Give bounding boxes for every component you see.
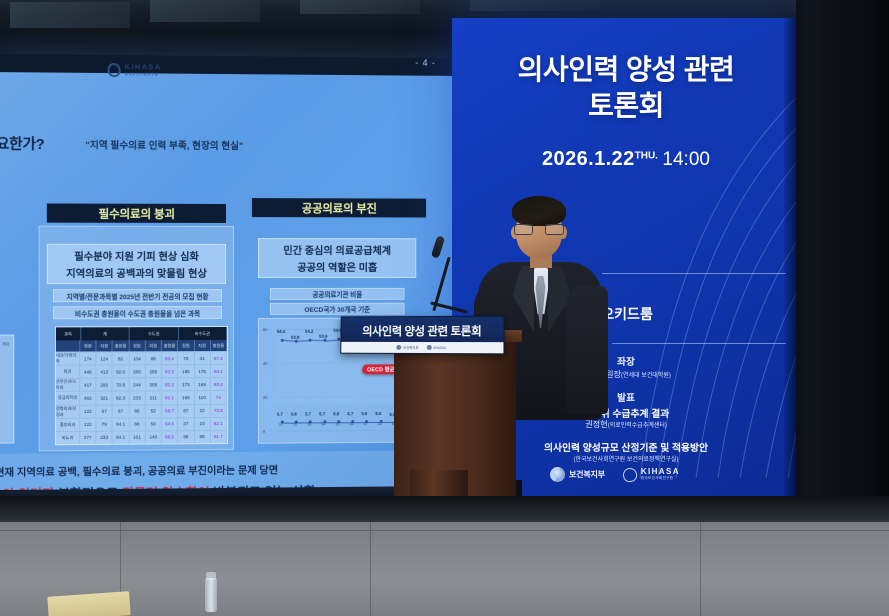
table-sub-headers: 정원 지원 충원율 정원 지원 충원율 정원 지원 충원율 [56, 340, 227, 352]
table-cell: 82.2 [162, 378, 178, 390]
table-cell: 59.7 [162, 405, 178, 417]
table-cell: 41 [194, 352, 210, 364]
slide-question: 논의가 필요한가? [0, 132, 44, 154]
table-cell: 82.3 [113, 392, 129, 404]
table-cell: 122 [80, 405, 96, 417]
table-cell: 161 [129, 431, 145, 443]
poster-title: 의사인력 양성 관련 토론회 [452, 52, 800, 124]
table-row: 외과44641392.626025592.218617594.1 [56, 364, 227, 378]
table-cell: 124 [97, 352, 113, 364]
table-cell: 96 [178, 431, 194, 443]
table-row-label: 산부인과/소아과 [56, 379, 80, 391]
regional-gap-map-panel: 지역별 의료 격차 [0, 335, 14, 445]
table-cell: 23 [194, 418, 210, 430]
speaker-arm-right [566, 286, 608, 414]
table-cell: 244 [129, 379, 145, 391]
table-cell: 417 [80, 379, 96, 391]
chart-data-label: 5.8 [333, 411, 339, 416]
chart-data-label: 5.6 [361, 412, 367, 417]
chart-data-label: 53.9 [319, 334, 327, 339]
table-cell: 233 [97, 432, 113, 444]
residency-table: 과목 계 수도권 비수도권 정원 지원 충원율 정원 지원 충원율 정원 지원 … [55, 326, 228, 445]
chart-data-label: 5.7 [305, 412, 311, 417]
table-cell: 83.4 [162, 352, 178, 364]
slide-kihasa-logo: KIHASA 한국보건사회연구원 [108, 63, 162, 78]
kihasa-logo-text: KIHASA [125, 64, 162, 73]
ceiling-panel [470, 0, 600, 11]
left-projection-screen: - 4 - KIHASA 한국보건사회연구원 논의가 필요한가? "지역 필수의… [0, 54, 457, 490]
table-cell: 413 [97, 366, 113, 378]
table-cell: 79 [97, 418, 113, 430]
table-cell: 169 [178, 392, 194, 404]
map-label: 지역별 의료 격차 [0, 342, 9, 348]
table-cell: 70 [178, 352, 194, 364]
table-cell: 174 [80, 352, 96, 364]
table-cell: 70.8 [113, 379, 129, 391]
table-cell: 82 [113, 352, 129, 364]
chart-data-label: 53.8 [291, 334, 299, 339]
floor-seam [370, 516, 371, 616]
public-summary-box: 민간 중심의 의료공급체계 공공의 역할은 미흡 [258, 238, 416, 278]
slide-page-number: - 4 - [415, 58, 436, 68]
chart-data-label: 5.7 [319, 412, 325, 417]
chart-y-tick: 60 [263, 327, 267, 332]
table-cell: 402 [80, 392, 96, 404]
floor-seam [700, 516, 701, 616]
kihasa-diamond-icon [106, 62, 122, 79]
essential-note-1: 지역별/전문과목별 2025년 전반기 전공의 모집 현황 [53, 289, 222, 302]
table-cell: 122 [80, 418, 96, 430]
table-cell: 94.1 [211, 365, 227, 377]
podium-banner-title: 의사인력 양성 관련 토론회 [341, 323, 503, 339]
kihasa-diamond-icon [426, 345, 431, 350]
chart-data-label: 5.6 [375, 412, 381, 417]
chart-x-tick: 16 [349, 422, 353, 426]
table-cell: 110 [194, 391, 210, 403]
table-cell: 67 [113, 405, 129, 417]
table-cell: 260 [129, 365, 145, 377]
ceiling-panel [150, 0, 260, 22]
chart-data-label: 5.7 [277, 412, 283, 417]
table-cell: 140 [146, 431, 162, 443]
table-cell: 86.5 [162, 431, 178, 443]
conference-stage-scene: - 4 - KIHASA 한국보건사회연구원 논의가 필요한가? "지역 필수의… [0, 0, 889, 616]
stage-front-edge [0, 496, 889, 522]
chart-x-tick: 12 [293, 423, 297, 427]
chart-data-label: 5.7 [347, 412, 353, 417]
section-divider [612, 343, 786, 344]
card-header-essential: 필수의료의 붕괴 [47, 203, 226, 223]
taeguk-icon [396, 345, 401, 350]
table-cell: 93.4 [211, 378, 227, 390]
essential-summary-box: 필수분야 지원 기피 현상 심화 지역의료의 공백과의 맞물림 현상 [47, 244, 226, 284]
kihasa-logo-subtitle: 한국보건사회연구원 [125, 72, 162, 77]
table-cell: 205 [146, 379, 162, 391]
water-bottle [205, 578, 217, 612]
podium-banner: 의사인력 양성 관련 토론회 보건복지부 KIHASA [340, 316, 504, 355]
public-note-1: 공공의료기관 비율 [270, 288, 405, 300]
chart-y-tick: 0 [263, 429, 265, 434]
kihasa-diamond-icon [621, 466, 638, 483]
chart-y-tick: 20 [263, 395, 267, 400]
table-cell: 72.8 [211, 405, 227, 417]
poster-logo-row: 보건복지부 KIHASA 한국보건사회연구원 [550, 467, 680, 482]
table-row: 흉부외과1227964.1885664.5372362.1 [56, 417, 227, 431]
table-cell: 88 [129, 405, 145, 417]
table-row: 정형외과/신경과1226767885259.7872272.8 [56, 404, 227, 418]
table-row: 비뇨과27723384.116114086.5968891.7 [56, 430, 227, 444]
table-row-label: 비뇨과 [56, 432, 80, 444]
table-cell: 92.1 [162, 392, 178, 404]
chart-data-label: 54.2 [305, 329, 313, 334]
public-note-2: OECD국가 30개국 기준 [270, 303, 405, 315]
table-cell: 74 [211, 391, 227, 403]
logo-mohw: 보건복지부 [550, 467, 605, 482]
table-cell: 211 [146, 392, 162, 404]
table-row-label: 정형외과/신경과 [56, 405, 80, 417]
table-head-groups: 과목 계 수도권 비수도권 [56, 327, 227, 340]
slide-quote: "지역 필수의료 인력 부족, 현장의 현실" [85, 137, 243, 152]
floor-seam [0, 530, 889, 531]
table-cell: 295 [97, 379, 113, 391]
table-row-label: 흉부외과 [56, 419, 80, 431]
podium-banner-footer: 보건복지부 KIHASA [341, 342, 503, 353]
chart-x-tick: 17 [363, 422, 367, 426]
conclusion-line-1: 나라는 현재 지역의료 공백, 필수의료 붕괴, 공공의료 부진이라는 문제 당… [0, 462, 278, 480]
chart-gridline [277, 430, 411, 432]
table-cell: 446 [80, 366, 96, 378]
slide-conclusion: 나라는 현재 지역의료 공백, 필수의료 붕괴, 공공의료 부진이라는 문제 당… [0, 450, 457, 490]
table-cell: 52 [146, 405, 162, 417]
table-cell: 277 [80, 432, 96, 444]
table-cell: 92.6 [113, 366, 129, 378]
table-row: 내과/가정의학174124821048883.4704167.2 [56, 351, 227, 365]
chart-x-tick: 13 [307, 422, 311, 426]
table-cell: 67.2 [211, 352, 227, 364]
table-cell: 175 [194, 365, 210, 377]
chart-x-tick: 11 [279, 423, 283, 427]
slide-top-band [0, 54, 457, 76]
table-cell: 67 [97, 405, 113, 417]
table-cell: 22 [194, 405, 210, 417]
chart-data-label: 5.6 [291, 412, 297, 417]
chart-y-tick: 40 [263, 361, 267, 366]
table-row: 응급의학과40232182.323321192.116911074 [56, 390, 227, 404]
table-cell: 233 [129, 392, 145, 404]
banner-logo-kihasa: KIHASA [426, 345, 445, 350]
table-cell: 64.5 [162, 418, 178, 430]
table-cell: 37 [178, 418, 194, 430]
table-row-label: 응급의학과 [56, 392, 80, 404]
ceiling-panel [10, 2, 130, 28]
essential-note-2: 비수도권 충원율이 수도권 충원율을 넘은 과목 [53, 306, 222, 319]
chart-data-label: 54.4 [277, 328, 285, 333]
table-cell: 87 [178, 405, 194, 417]
table-cell: 173 [178, 378, 194, 390]
table-row-label: 내과/가정의학 [56, 352, 80, 364]
table-cell: 92.2 [162, 365, 178, 377]
table-cell: 64.1 [113, 418, 129, 430]
ceiling-panel [300, 0, 420, 14]
table-cell: 321 [97, 392, 113, 404]
table-cell: 56 [146, 418, 162, 430]
table-cell: 168 [194, 378, 210, 390]
table-row-label: 외과 [56, 366, 80, 378]
table-cell: 255 [146, 365, 162, 377]
table-cell: 62.1 [211, 418, 227, 430]
chart-x-tick: 15 [335, 422, 339, 426]
taeguk-icon [550, 467, 565, 482]
table-cell: 88 [146, 352, 162, 364]
speaker-hair [512, 196, 566, 226]
chart-x-tick: 18 [377, 422, 381, 426]
logo-kihasa: KIHASA 한국보건사회연구원 [623, 468, 680, 482]
glasses-icon [514, 224, 564, 236]
table-cell: 91.7 [211, 431, 227, 443]
table-cell: 84.1 [113, 431, 129, 443]
poster-datetime: 2026.1.22THU. 14:00 [452, 148, 800, 171]
table-cell: 88 [129, 418, 145, 430]
table-cell: 88 [194, 431, 210, 443]
card-header-public: 공공의료의 부진 [252, 198, 426, 217]
section-divider [602, 273, 786, 274]
table-cell: 104 [129, 352, 145, 364]
banner-logo-mohw: 보건복지부 [396, 345, 418, 350]
chart-x-tick: 14 [321, 422, 325, 426]
table-row: 산부인과/소아과41729570.824420582.217316893.4 [56, 377, 227, 391]
table-cell: 186 [178, 365, 194, 377]
